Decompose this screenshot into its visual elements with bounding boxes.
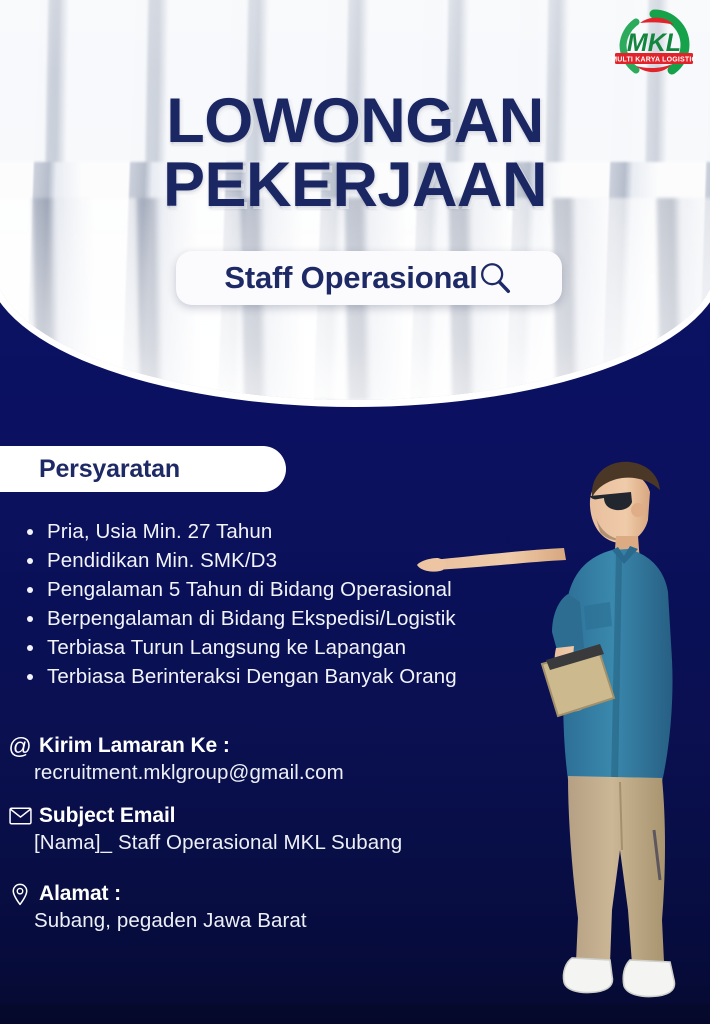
job-poster: MKL MULTI KARYA LOGISTIC LOWONGAN PEKERJ… bbox=[0, 0, 710, 1024]
address-heading-text: Alamat : bbox=[39, 882, 121, 906]
requirement-item: Pria, Usia Min. 27 Tahun bbox=[22, 518, 457, 545]
spacer bbox=[8, 785, 478, 804]
spacer bbox=[8, 855, 478, 882]
job-title-badge: Staff Operasional bbox=[176, 251, 562, 305]
job-title-text: Staff Operasional bbox=[224, 260, 477, 296]
requirement-item: Pendidikan Min. SMK/D3 bbox=[22, 547, 457, 574]
khaki-pants bbox=[568, 776, 665, 964]
requirements-heading-text: Persyaratan bbox=[39, 455, 180, 484]
company-logo: MKL MULTI KARYA LOGISTIC bbox=[606, 6, 702, 86]
at-icon: @ bbox=[8, 735, 32, 758]
requirements-heading-badge: Persyaratan bbox=[0, 446, 286, 492]
logo-tagline: MULTI KARYA LOGISTIC bbox=[611, 56, 697, 63]
logo-monogram: MKL bbox=[627, 29, 681, 57]
requirement-item: Pengalaman 5 Tahun di Bidang Operasional bbox=[22, 576, 457, 603]
head bbox=[590, 462, 660, 543]
address-value: Subang, pegaden Jawa Barat bbox=[34, 909, 478, 933]
poster-headline: LOWONGAN PEKERJAAN bbox=[0, 92, 710, 216]
email-heading-text: Kirim Lamaran Ke : bbox=[39, 734, 230, 758]
envelope-icon bbox=[8, 807, 32, 825]
address-heading-row: Alamat : bbox=[8, 882, 478, 906]
email-address-value[interactable]: recruitment.mklgroup@gmail.com bbox=[34, 761, 478, 785]
subject-heading-row: Subject Email bbox=[8, 804, 478, 828]
subject-heading-text: Subject Email bbox=[39, 804, 175, 828]
requirement-item: Terbiasa Turun Langsung ke Lapangan bbox=[22, 634, 457, 661]
subject-format-value: [Nama]_ Staff Operasional MKL Subang bbox=[34, 831, 478, 855]
magnifier-icon bbox=[476, 259, 514, 297]
requirements-list: Pria, Usia Min. 27 Tahun Pendidikan Min.… bbox=[22, 518, 457, 692]
headline-line-2: PEKERJAAN bbox=[0, 156, 710, 216]
headline-line-1: LOWONGAN bbox=[166, 86, 543, 156]
shoes bbox=[563, 958, 674, 997]
requirement-item: Terbiasa Berinteraksi Dengan Banyak Oran… bbox=[22, 663, 457, 690]
requirement-item: Berpengalaman di Bidang Ekspedisi/Logist… bbox=[22, 605, 457, 632]
location-pin-icon bbox=[8, 883, 32, 906]
contact-block: @ Kirim Lamaran Ke : recruitment.mklgrou… bbox=[8, 734, 478, 933]
email-heading-row: @ Kirim Lamaran Ke : bbox=[8, 734, 478, 758]
